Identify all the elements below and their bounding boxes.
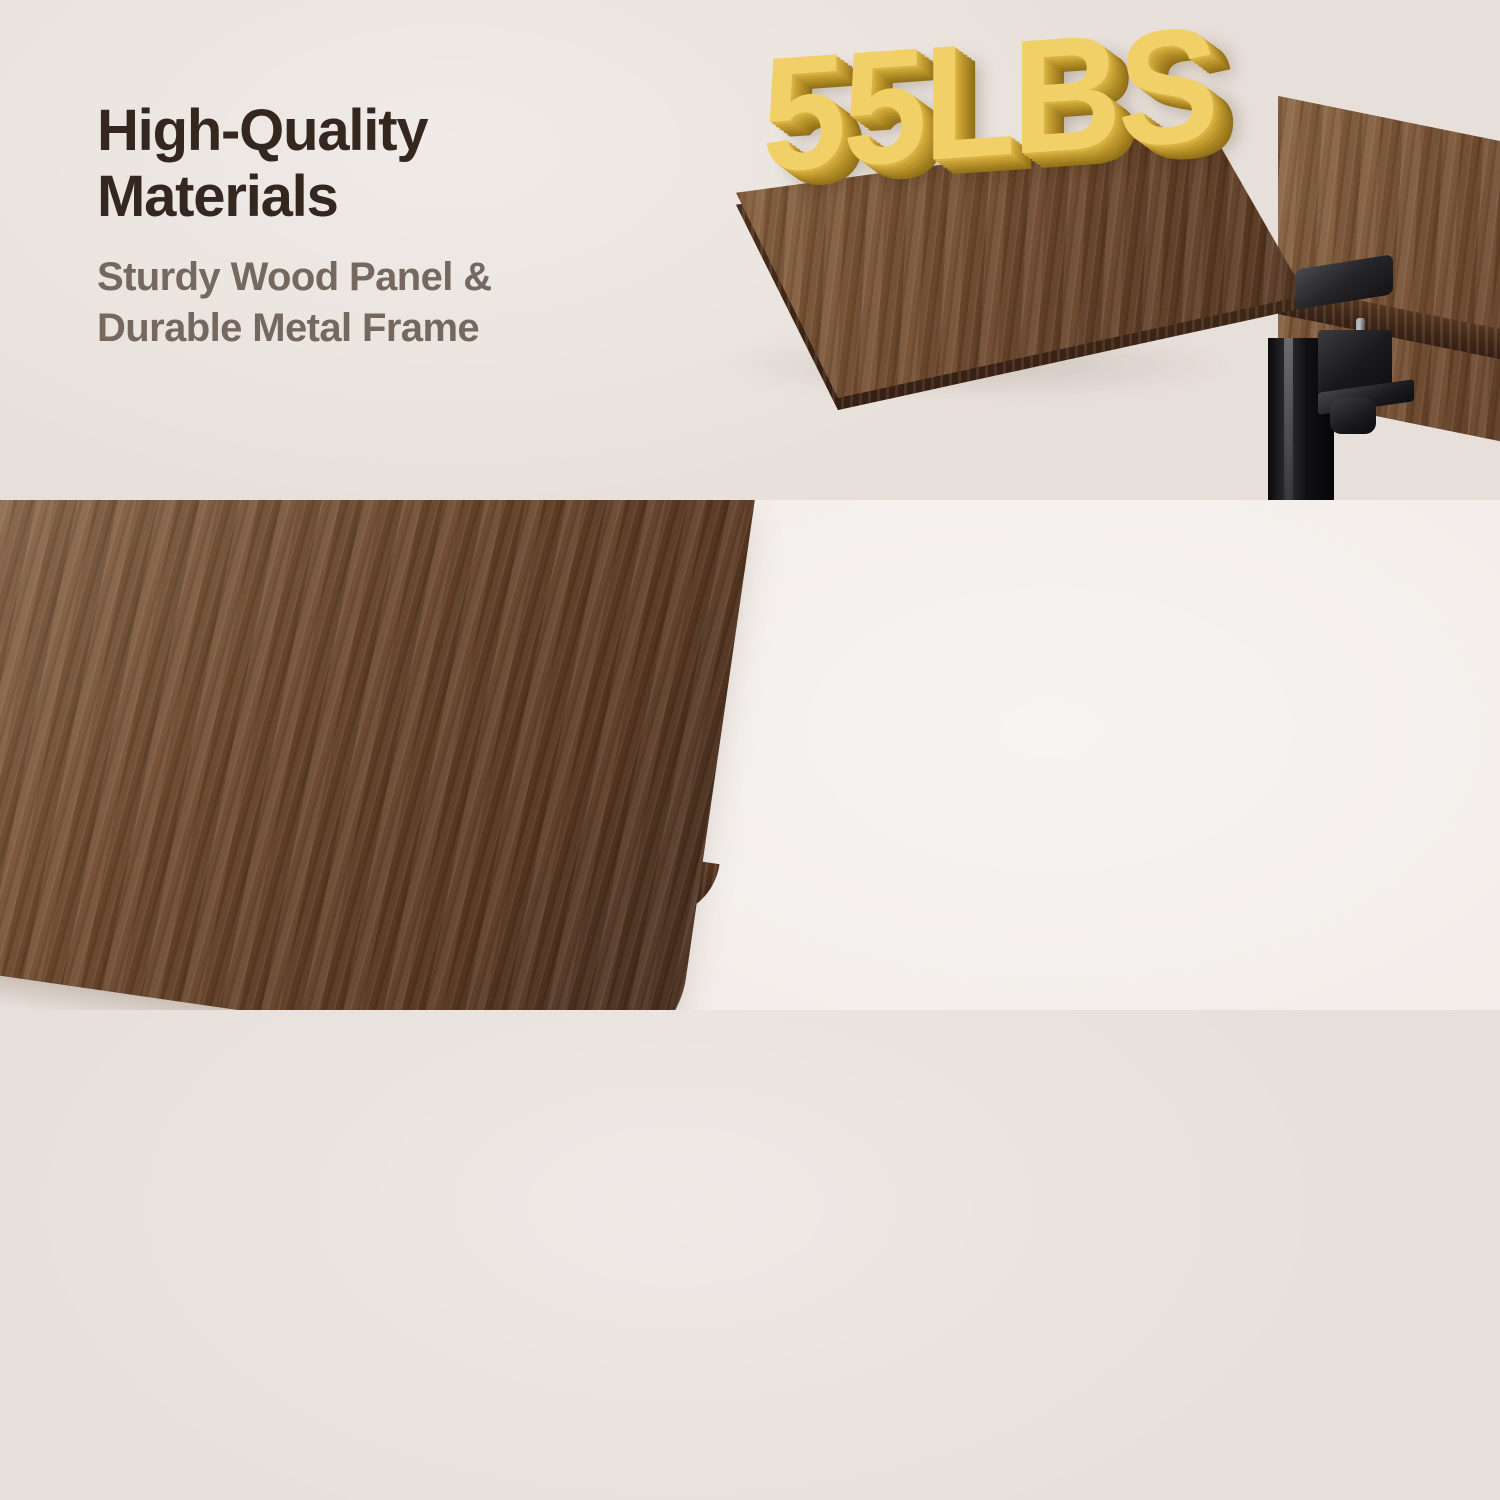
- panel-high-quality-materials: 55LBS High-Quality Materials Sturdy Wood…: [0, 0, 1500, 500]
- weight-capacity-badge: 55LBS: [762, 3, 1215, 197]
- desktop-corner-image: [0, 500, 758, 1010]
- materials-text-block: High-Quality Materials Sturdy Wood Panel…: [97, 98, 717, 353]
- materials-headline: High-Quality Materials: [97, 98, 717, 230]
- materials-subline: Sturdy Wood Panel & Durable Metal Frame: [97, 252, 717, 353]
- tray-post-highlight: [1284, 338, 1293, 500]
- tray-thumb-knob: [1330, 398, 1376, 434]
- panel-background-wash: [0, 1010, 1500, 1500]
- panel-comfort-and-safety: Comfort And Safety Smooth Edges & Rounde…: [0, 500, 1500, 1010]
- panel-convenient-clamp-design: Convenient Clamp Design With Anti-Scratc…: [0, 1010, 1500, 1500]
- product-feature-infographic: 55LBS High-Quality Materials Sturdy Wood…: [0, 0, 1500, 1500]
